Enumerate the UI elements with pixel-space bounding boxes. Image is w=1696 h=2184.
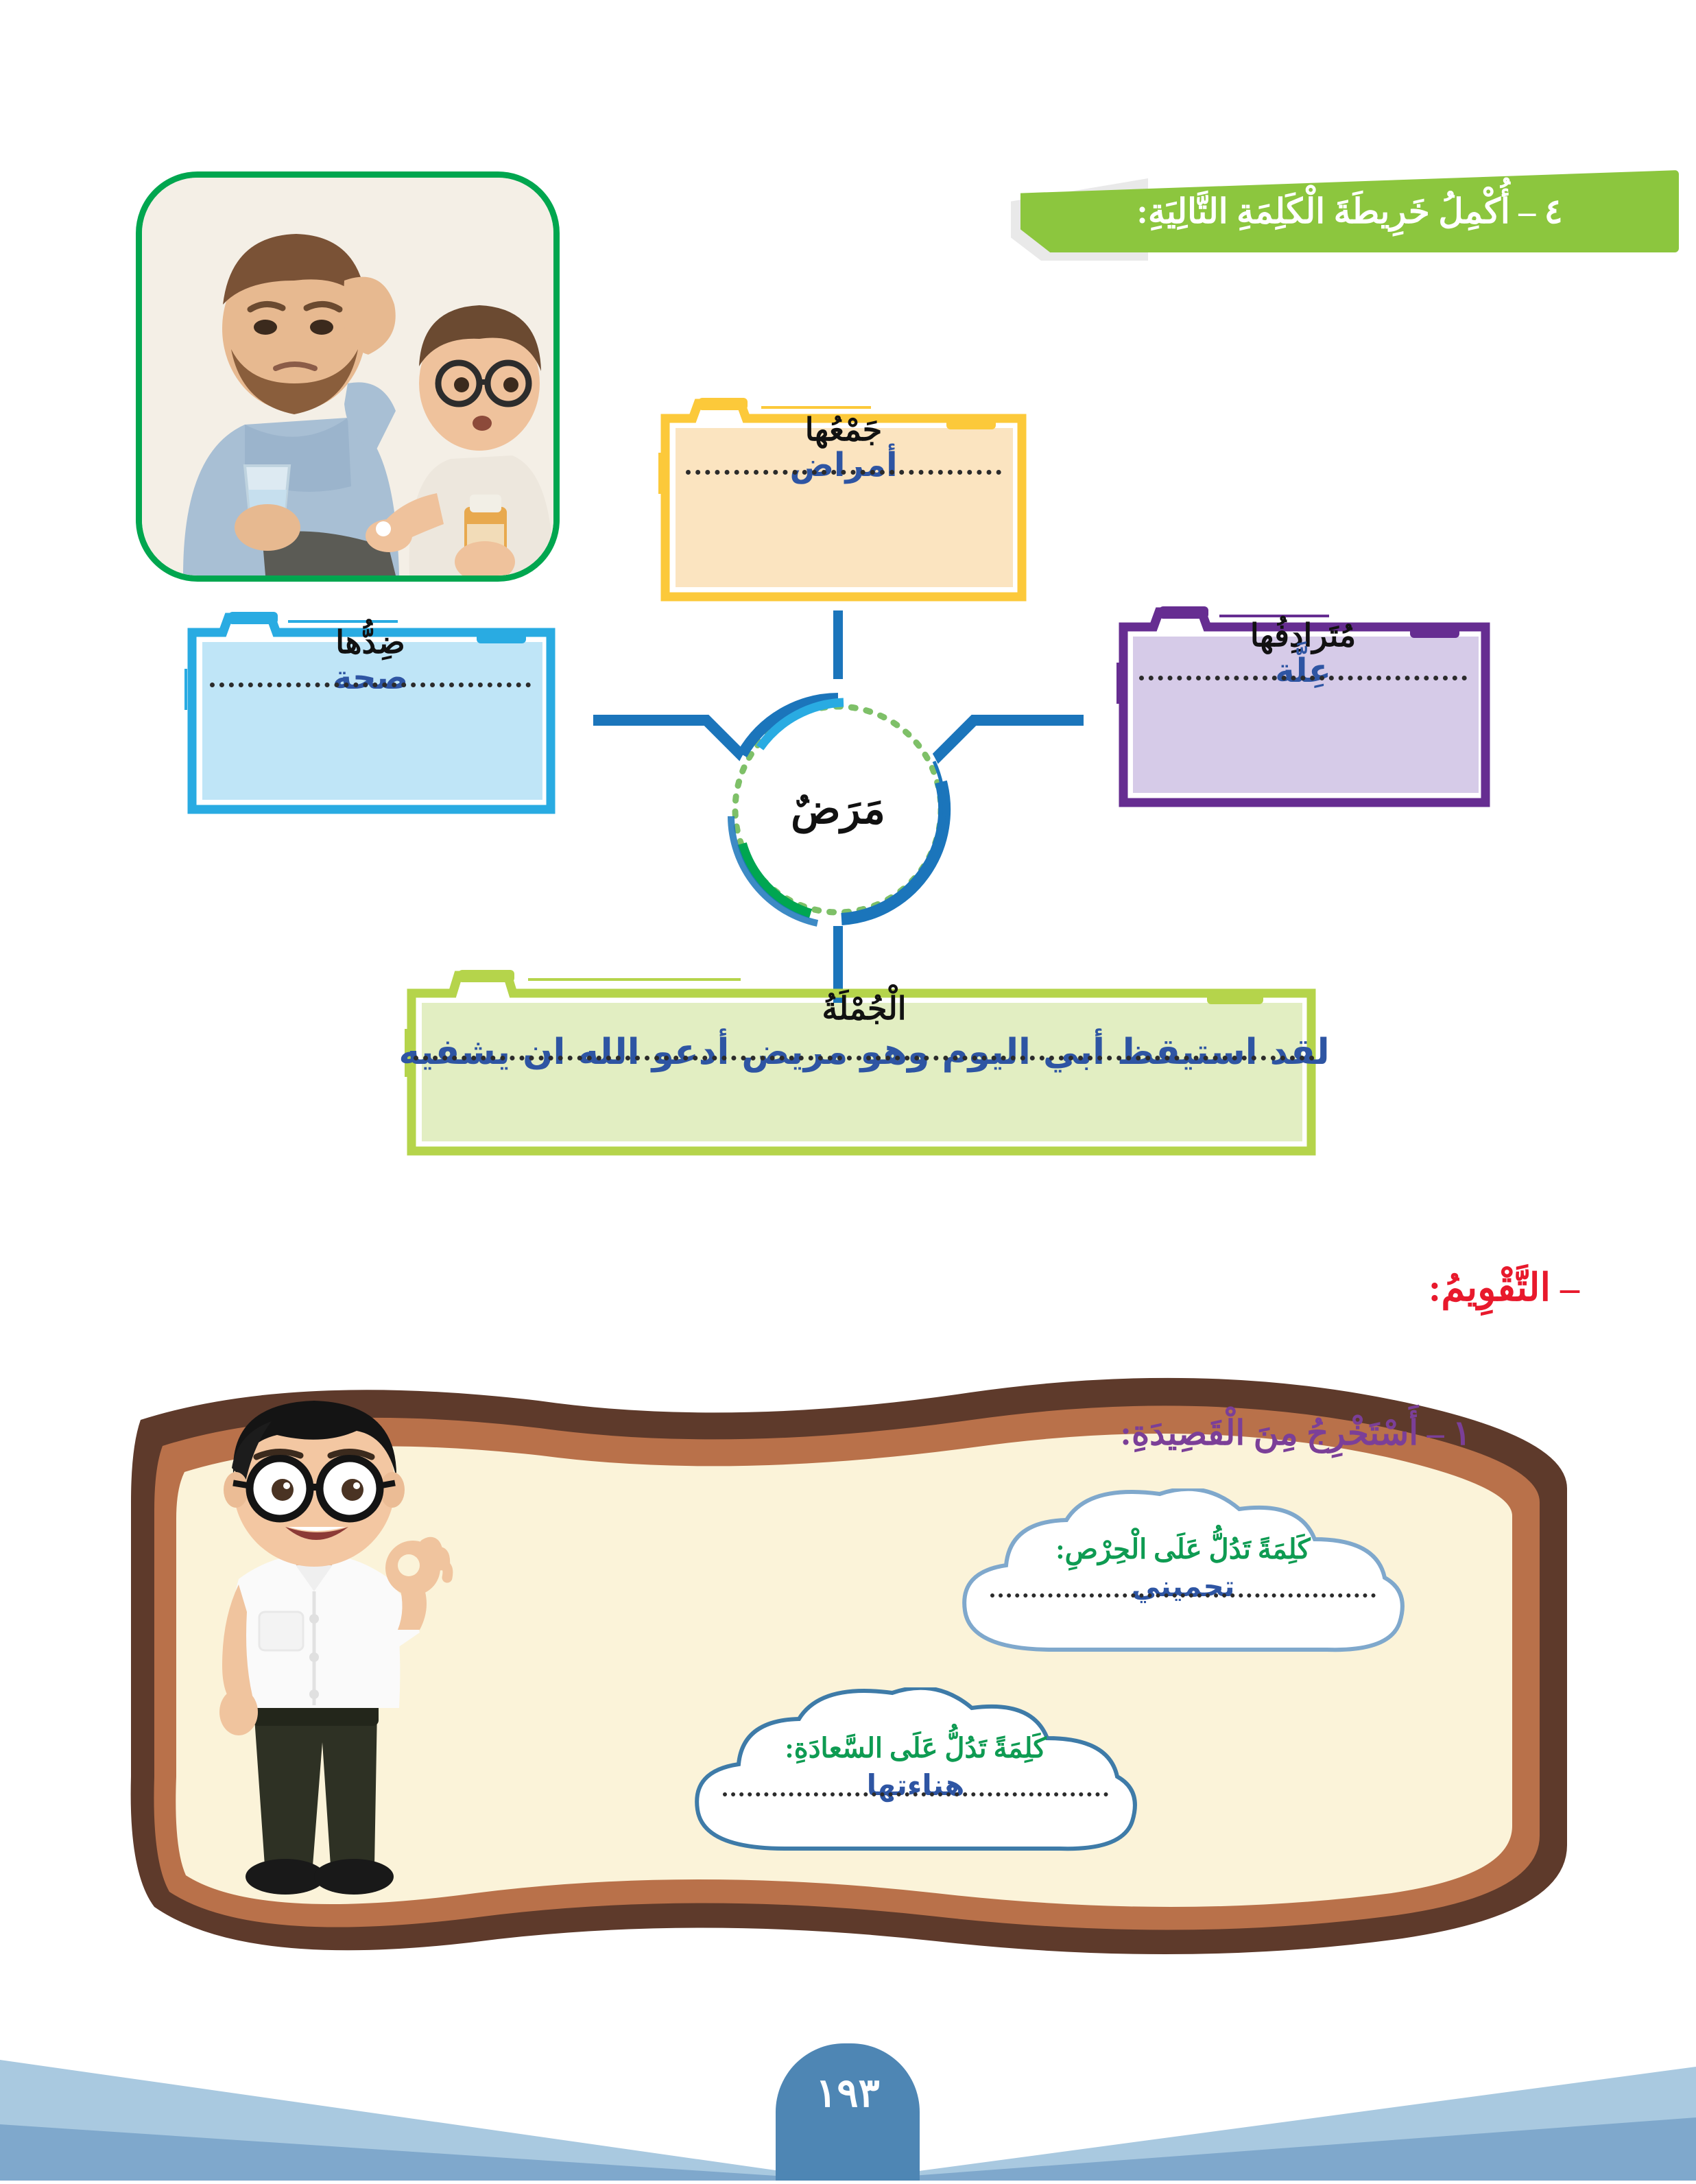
panel-question: ١ – أَسْتَخْرِجُ مِنَ الْقَصِيدَةِ: — [1120, 1413, 1471, 1453]
cloud-content-2: كَلِمَةً تَدُلُّ عَلَى السَّعادَةِ: هناء… — [662, 1732, 1169, 1796]
page-number: ١٩٣ — [815, 2069, 879, 2116]
word-map: جَمْعُها أمراض ضِدُّها صحة — [0, 384, 1696, 1207]
cloud-answer-text-1[interactable]: تحميني — [1132, 1569, 1235, 1603]
box-answer-sentence[interactable]: لقد استيقظ أبي اليوم وهو مريض أدعو الله … — [398, 1034, 1329, 1071]
word-map-center: مَرَضٌ — [701, 672, 975, 947]
cloud-line-2 — [723, 1792, 1108, 1796]
answer-line-sentence — [414, 1056, 1314, 1060]
word-map-box-synonym: مُتَرادِفُها عِلَّة — [1097, 597, 1509, 823]
box-answer-opposite[interactable]: صحة — [333, 661, 408, 695]
page-number-tab: ١٩٣ — [776, 2043, 920, 2181]
evaluation-heading: – التَّقْوِيمُ: — [1429, 1266, 1579, 1310]
cloud-answer-text-2[interactable]: هناءتها — [867, 1768, 965, 1802]
page-footer: ١٩٣ — [0, 2043, 1696, 2181]
answer-line-opposite — [210, 682, 532, 687]
cloud-content-1: كَلِمَةً تَدُلُّ عَلَى الْحِرْصِ: تحميني — [929, 1533, 1437, 1598]
cloud-question-2: كَلِمَةً تَدُلُّ عَلَى السَّعادَةِ: — [785, 1732, 1046, 1764]
instruction-text: ٤ – أُكْمِلُ خَرِيطَةَ الْكَلِمَةِ التَّ… — [1136, 191, 1562, 231]
word-map-box-plural: جَمْعُها أمراض — [645, 391, 1042, 617]
cloud-answer-2: كَلِمَةً تَدُلُّ عَلَى السَّعادَةِ: هناء… — [662, 1687, 1169, 1859]
box-answer-plural[interactable]: أمراض — [789, 448, 897, 482]
box-answer-synonym[interactable]: عِلَّة — [1275, 654, 1331, 688]
box-label-synonym: مُتَرادِفُها — [1250, 619, 1356, 654]
banner-shape: ٤ – أُكْمِلُ خَرِيطَةَ الْكَلِمَةِ التَّ… — [1020, 170, 1679, 252]
answer-line-plural — [686, 470, 1001, 475]
word-map-box-sentence: الْجُمْلَةُ لقد استيقظ أبي اليوم وهو مري… — [384, 960, 1344, 1173]
evaluation-panel: ١ – أَسْتَخْرِجُ مِنَ الْقَصِيدَةِ: كَلِ… — [113, 1365, 1595, 1969]
cloud-question-1: كَلِمَةً تَدُلُّ عَلَى الْحِرْصِ: — [1055, 1533, 1310, 1565]
mascot-artwork — [151, 1386, 466, 1941]
instruction-banner: ٤ – أُكْمِلُ خَرِيطَةَ الْكَلِمَةِ التَّ… — [1020, 170, 1679, 252]
cloud-line-1 — [990, 1593, 1376, 1598]
mascot-boy — [151, 1386, 466, 1941]
cloud-answer-1: كَلِمَةً تَدُلُّ عَلَى الْحِرْصِ: تحميني — [929, 1488, 1437, 1660]
word-map-box-opposite: ضِدُّها صحة — [168, 604, 573, 830]
answer-line-synonym — [1139, 676, 1466, 680]
center-word: مَرَضٌ — [701, 672, 975, 947]
box-label-opposite: ضِدُّها — [335, 626, 405, 661]
box-label-plural: جَمْعُها — [805, 413, 882, 448]
box-label-sentence: الْجُمْلَةُ — [822, 992, 907, 1027]
